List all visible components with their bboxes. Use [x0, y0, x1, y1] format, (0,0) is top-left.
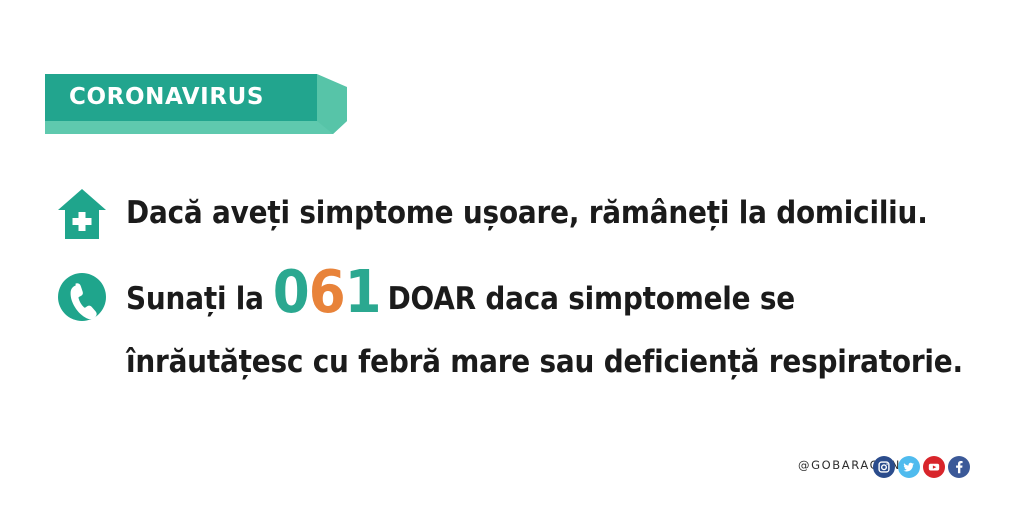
youtube-icon[interactable]	[923, 456, 945, 478]
social-icon-list	[873, 456, 970, 478]
message-line-3: înrăutățesc cu febră mare sau deficiență…	[126, 344, 963, 380]
call-prefix-text: Sunați la	[126, 281, 264, 317]
phone-number: 061	[264, 271, 388, 312]
facebook-icon[interactable]	[948, 456, 970, 478]
house-medical-icon	[57, 188, 107, 240]
message-line-1: Dacă aveți simptome ușoare, rămâneți la …	[126, 195, 928, 231]
message-line-2: Sunați la 061 DOAR daca simptomele se	[126, 268, 795, 317]
message-list: Dacă aveți simptome ușoare, rămâneți la …	[0, 0, 1024, 512]
call-suffix-text: DOAR daca simptomele se	[388, 281, 795, 317]
footer: @GOBARAGON	[0, 452, 1024, 488]
phone-digit-1: 1	[345, 257, 381, 326]
instagram-icon[interactable]	[873, 456, 895, 478]
phone-digit-0: 0	[273, 257, 309, 326]
phone-circle-icon	[57, 272, 107, 322]
twitter-icon[interactable]	[898, 456, 920, 478]
phone-digit-6: 6	[309, 257, 345, 326]
